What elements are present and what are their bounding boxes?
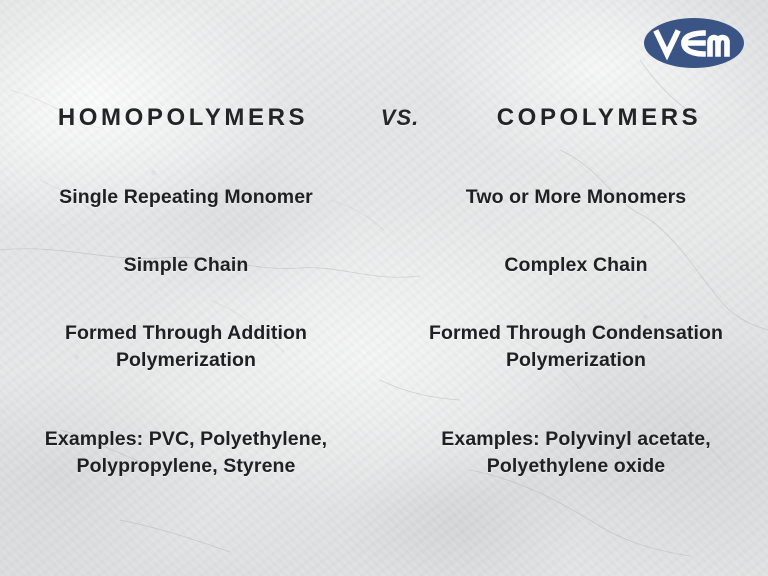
comparison-slide: HOMOPOLYMERS VS. COPOLYMERS Single Repea… [0,0,768,576]
comparison-row: Examples: PVC, Polyethylene, Polypropyle… [0,404,768,502]
heading-versus: VS. [372,105,428,131]
row-4-copolymer-value: Examples: Polyvinyl acetate, Polyethylen… [384,426,768,502]
comparison-row: Formed Through Addition Polymerization F… [0,308,768,404]
row-4-homopolymer-value: Examples: PVC, Polyethylene, Polypropyle… [0,426,384,502]
row-2-copolymer-value: Complex Chain [384,252,768,308]
logo-letter-m [710,38,727,55]
row-1-homopolymer-value: Single Repeating Monomer [0,184,384,240]
row-3-homopolymer-value: Formed Through Addition Polymerization [0,320,384,404]
comparison-row: Single Repeating Monomer Two or More Mon… [0,172,768,240]
row-2-homopolymer-value: Simple Chain [0,252,384,308]
row-1-copolymer-value: Two or More Monomers [384,184,768,240]
row-3-copolymer-value: Formed Through Condensation Polymerizati… [384,320,768,404]
comparison-row: Simple Chain Complex Chain [0,240,768,308]
heading-copolymers: COPOLYMERS [428,104,768,132]
heading-homopolymers: HOMOPOLYMERS [0,104,372,132]
vem-logo [643,16,745,70]
comparison-rows: Single Repeating Monomer Two or More Mon… [0,172,768,502]
headings-row: HOMOPOLYMERS VS. COPOLYMERS [0,100,768,136]
